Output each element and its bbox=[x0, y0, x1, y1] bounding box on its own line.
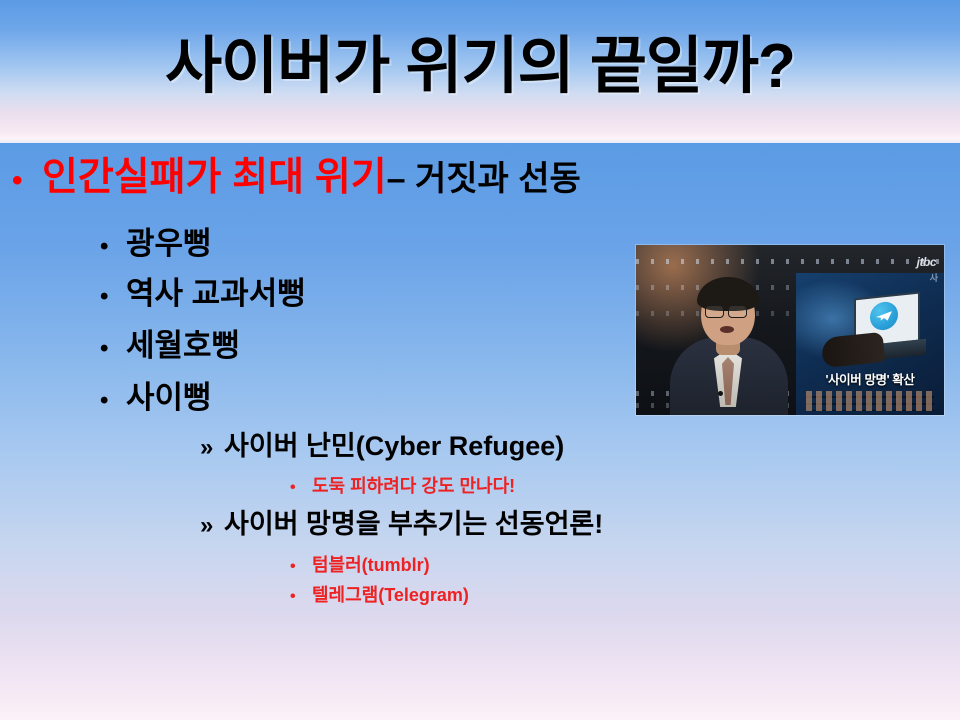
bullet-level4-label: 텀블러(tumblr) bbox=[312, 556, 430, 574]
bullet-marker-dot: • bbox=[290, 480, 312, 496]
bullet-level3-item-1: » 사이버 난민(Cyber Refugee) bbox=[200, 433, 564, 460]
news-caption: '사이버 망명' 확산 bbox=[796, 369, 944, 388]
bullet-level4-item-2: • 텀블러(tumblr) bbox=[290, 556, 430, 575]
bullet-marker-guillemet: » bbox=[200, 436, 224, 460]
bullet-level2-label: 세월호뻥 bbox=[126, 330, 240, 361]
bullet-marker-dot: • bbox=[290, 589, 312, 605]
bullet-level2-item-4: • 사이뻥 bbox=[100, 382, 212, 413]
bullet-level4-label: 도둑 피하려다 강도 만나다! bbox=[312, 477, 515, 495]
bullet-level1: • 인간실패가 최대 위기 – 거짓과 선동 bbox=[12, 158, 581, 197]
bullet-marker-dot: • bbox=[290, 559, 312, 575]
news-broadcast-image: '사이버 망명' 확산 jtbc 사 bbox=[636, 245, 944, 415]
bullet-marker-dot: • bbox=[100, 389, 126, 413]
bullet-level2-label: 역사 교과서뻥 bbox=[126, 278, 306, 309]
bullet-level2-item-3: • 세월호뻥 bbox=[100, 330, 240, 361]
news-graphic-panel: '사이버 망명' 확산 bbox=[796, 273, 944, 415]
bullet-marker-guillemet: » bbox=[200, 514, 224, 538]
bullet-level2-label: 사이뻥 bbox=[126, 382, 212, 413]
bullet-level2-label: 광우뻥 bbox=[126, 228, 212, 259]
bullet-marker-dot: • bbox=[100, 235, 126, 259]
bullet-marker-dot: • bbox=[100, 285, 126, 309]
led-strip bbox=[636, 259, 944, 264]
news-side-text: 사 bbox=[930, 271, 938, 284]
bullet-level1-black-text: – 거짓과 선동 bbox=[387, 162, 581, 196]
bullet-level2-item-2: • 역사 교과서뻥 bbox=[100, 278, 306, 309]
keyboard-graphic bbox=[806, 391, 934, 411]
title-separator bbox=[0, 133, 960, 143]
bullet-marker-dot: • bbox=[12, 166, 42, 196]
glasses-icon bbox=[728, 305, 747, 318]
microphone-icon bbox=[718, 391, 723, 396]
bullet-level4-label: 텔레그램(Telegram) bbox=[312, 586, 469, 604]
presentation-slide: 사이버가 위기의 끝일까? • 인간실패가 최대 위기 – 거짓과 선동 • 광… bbox=[0, 0, 960, 720]
news-anchor-mouth bbox=[720, 326, 734, 333]
glasses-icon bbox=[705, 305, 724, 318]
bullet-level2-item-1: • 광우뻥 bbox=[100, 228, 212, 259]
bullet-level3-label: 사이버 난민(Cyber Refugee) bbox=[224, 433, 564, 460]
bullet-level3-label: 사이버 망명을 부추기는 선동언론! bbox=[224, 511, 603, 538]
bullet-level4-item-3: • 텔레그램(Telegram) bbox=[290, 586, 469, 605]
bullet-marker-dot: • bbox=[100, 337, 126, 361]
jtbc-logo: jtbc bbox=[917, 255, 936, 269]
bullet-level3-item-2: » 사이버 망명을 부추기는 선동언론! bbox=[200, 511, 603, 538]
bullet-level1-red-text: 인간실패가 최대 위기 bbox=[42, 158, 387, 197]
page-title: 사이버가 위기의 끝일까? bbox=[0, 0, 960, 133]
bullet-level4-item-1: • 도둑 피하려다 강도 만나다! bbox=[290, 477, 515, 496]
